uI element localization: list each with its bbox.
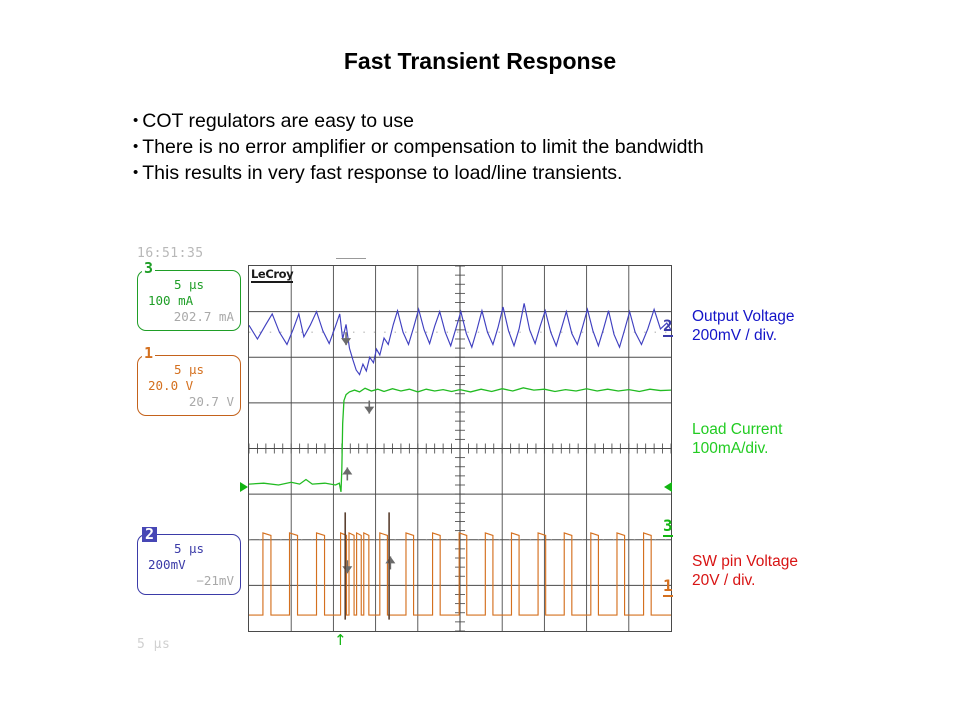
annotation-line-2: 200mV / div. (692, 326, 795, 345)
channel-timebase: 5 µs (144, 541, 234, 557)
channel-number-label: 3 (142, 261, 155, 276)
oscilloscope-capture: 16:51:35 5 µs 3 5 µs 100 mA 202.7 mA 1 5… (0, 0, 960, 720)
annotation-line-2: 20V / div. (692, 571, 798, 590)
channel-ref-1[interactable]: 1 (663, 578, 673, 594)
waveform-plot (249, 266, 671, 631)
channel-ref-3[interactable]: 3 (663, 518, 673, 534)
vendor-logo: LeCroy (251, 268, 293, 283)
trigger-position-marker[interactable]: ↑ (334, 633, 347, 648)
annotation-sw-pin-voltage: SW pin Voltage 20V / div. (692, 552, 798, 590)
channel-timebase: 5 µs (144, 362, 234, 378)
channel-box-3[interactable]: 3 5 µs 100 mA 202.7 mA (137, 270, 241, 331)
channel-measurement: 20.7 V (144, 394, 234, 410)
channel-number-label: 2 (142, 527, 157, 542)
channel-timebase: 5 µs (144, 277, 234, 293)
channel-scale: 200mV (144, 557, 234, 573)
annotation-line-1: SW pin Voltage (692, 552, 798, 571)
scope-graticule[interactable] (248, 265, 672, 632)
channel-measurement: 202.7 mA (144, 309, 234, 325)
annotation-output-voltage: Output Voltage 200mV / div. (692, 307, 795, 345)
channel-ref-2[interactable]: 2 (663, 318, 673, 334)
annotation-line-1: Output Voltage (692, 307, 795, 326)
scope-timebase-footer: 5 µs (137, 637, 170, 652)
channel-3-ground-marker-right[interactable] (664, 482, 672, 492)
timebase-window-indicator (336, 258, 366, 259)
channel-3-ground-marker-left[interactable] (240, 482, 248, 492)
annotation-line-2: 100mA/div. (692, 439, 782, 458)
channel-scale: 100 mA (144, 293, 234, 309)
channel-number-label: 1 (142, 346, 155, 361)
annotation-load-current: Load Current 100mA/div. (692, 420, 782, 458)
channel-scale: 20.0 V (144, 378, 234, 394)
channel-measurement: −21mV (144, 573, 234, 589)
channel-box-2[interactable]: 2 5 µs 200mV −21mV (137, 534, 241, 595)
channel-box-1[interactable]: 1 5 µs 20.0 V 20.7 V (137, 355, 241, 416)
annotation-line-1: Load Current (692, 420, 782, 439)
